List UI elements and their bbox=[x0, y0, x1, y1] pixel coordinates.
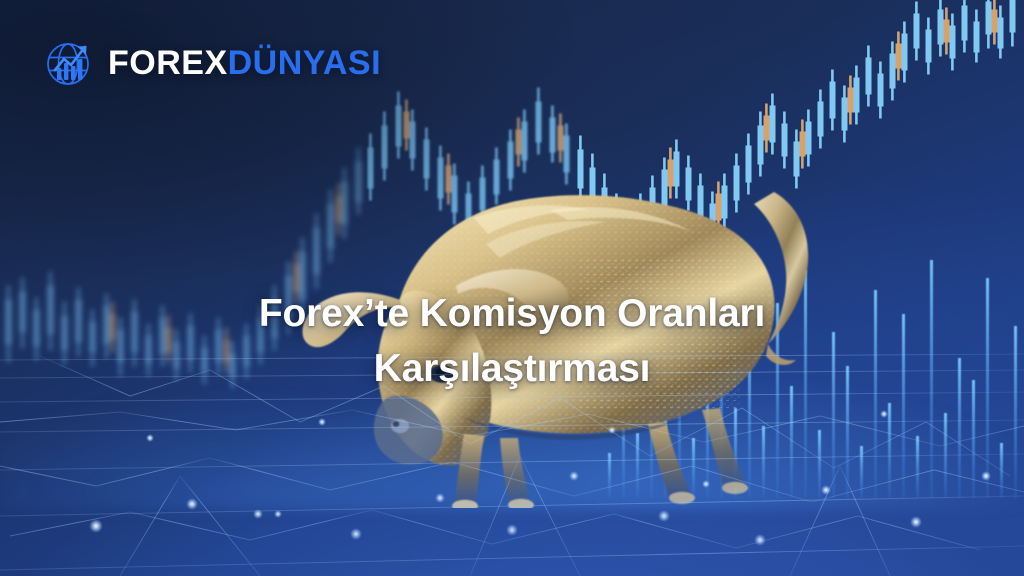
hero-banner: FOREXDÜNYASI Forex’te Komisyon Oranları … bbox=[0, 0, 1024, 576]
brand-name-primary: FOREX bbox=[108, 44, 228, 82]
page-title-line-2: Karşılaştırması bbox=[120, 341, 904, 396]
page-title: Forex’te Komisyon Oranları Karşılaştırma… bbox=[0, 286, 1024, 397]
page-title-line-1: Forex’te Komisyon Oranları bbox=[120, 286, 904, 341]
brand-name-secondary: DÜNYASI bbox=[228, 44, 381, 82]
brand-name: FOREXDÜNYASI bbox=[108, 46, 381, 80]
globe-growth-chart-icon bbox=[44, 38, 94, 88]
brand-logo[interactable]: FOREXDÜNYASI bbox=[44, 38, 381, 88]
